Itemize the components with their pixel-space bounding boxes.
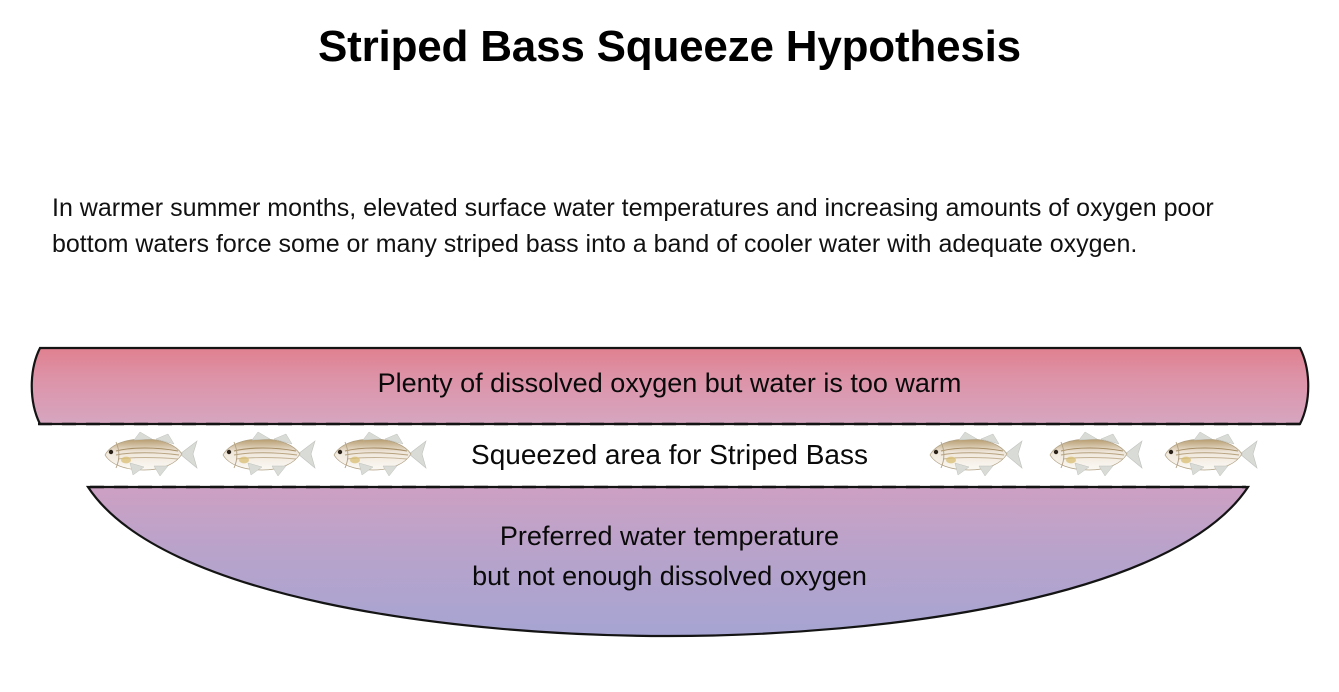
squeezed-band-label: Squeezed area for Striped Bass [0, 438, 1339, 472]
warm-layer-label: Plenty of dissolved oxygen but water is … [0, 366, 1339, 400]
striped-bass-squeeze-diagram: Plenty of dissolved oxygen but water is … [0, 330, 1339, 660]
cold-layer-label: Preferred water temperature but not enou… [0, 516, 1339, 596]
cold-layer-label-line-2: but not enough dissolved oxygen [0, 556, 1339, 596]
page-title: Striped Bass Squeeze Hypothesis [0, 22, 1339, 72]
cold-layer-label-line-1: Preferred water temperature [0, 516, 1339, 556]
intro-paragraph: In warmer summer months, elevated surfac… [52, 190, 1287, 262]
